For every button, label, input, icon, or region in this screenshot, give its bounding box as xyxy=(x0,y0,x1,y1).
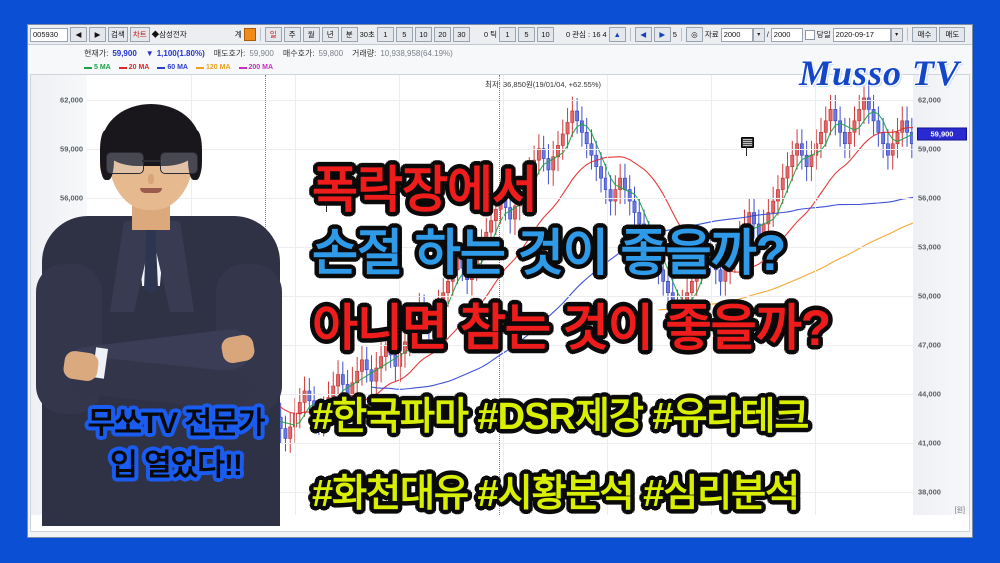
legend-item: 120 MA xyxy=(196,64,231,71)
today-label: 당일 xyxy=(817,29,831,40)
data-total-value: 2000 xyxy=(771,28,803,42)
chart-toolbar: 005930 ◀ ▶ 검색 차트 ◆삼성전자 계 일 주 월 년 분 30초 1… xyxy=(28,25,972,45)
hashtag-line-2: #화천대유 #시황분석 #심리분석 xyxy=(312,462,799,517)
minute-20[interactable]: 20 xyxy=(434,27,451,42)
title-line-2: 손절 하는 것이 좋을까? xyxy=(312,213,785,285)
period-button-week[interactable]: 주 xyxy=(284,27,301,42)
nav-left-icon[interactable]: ◀ xyxy=(635,27,652,42)
legend-item: 60 MA xyxy=(157,64,188,71)
title-line-3: 아니면 참는 것이 좋을까? xyxy=(312,288,830,360)
zero-label-2: 0 xyxy=(566,30,570,39)
minute-5[interactable]: 5 xyxy=(396,27,413,42)
legend-item: 5 MA xyxy=(84,64,111,71)
y-tick-right: 47,000 xyxy=(913,341,969,350)
minute-30[interactable]: 30 xyxy=(453,27,470,42)
y-tick-right: 59,000 xyxy=(913,144,969,153)
tick-5[interactable]: 5 xyxy=(518,27,535,42)
legend-item: 20 MA xyxy=(119,64,150,71)
volume-label: 거래량: xyxy=(352,48,376,59)
legend-item: 200 MA xyxy=(239,64,274,71)
data-count-combo[interactable]: 2000 ▾ xyxy=(721,28,765,42)
ask-price-label: 매도호가: xyxy=(214,48,246,59)
y-tick-right: 56,000 xyxy=(913,193,969,202)
caption-line-1: 무쏘TV 전문가 xyxy=(50,398,302,442)
date-value[interactable]: 2020-09-17 xyxy=(833,28,891,42)
minute-10[interactable]: 10 xyxy=(415,27,432,42)
channel-logo: Musso TV xyxy=(799,52,960,94)
count-label: 5 xyxy=(673,30,677,39)
sell-button[interactable]: 매도 xyxy=(939,27,965,42)
glasses-icon xyxy=(106,152,198,172)
date-chevron-down-icon[interactable]: ▾ xyxy=(891,28,903,42)
y-tick-right: 41,000 xyxy=(913,439,969,448)
legend-label: 60 MA xyxy=(167,64,188,71)
low-price-annotation: 최저: 36,850원(19/01/04, +62.55%) xyxy=(485,79,601,90)
presenter-nose xyxy=(148,174,154,184)
minute-30sec[interactable]: 30초 xyxy=(360,29,375,40)
buy-button[interactable]: 매수 xyxy=(912,27,938,42)
prev-stock-button[interactable]: ◀ xyxy=(70,27,87,42)
today-checkbox[interactable] xyxy=(805,30,815,40)
price-change-value: 1,100(1.80%) xyxy=(157,49,205,58)
period-button-minute[interactable]: 분 xyxy=(341,27,358,42)
account-label: 계 xyxy=(235,29,242,40)
chevron-down-icon[interactable]: ▾ xyxy=(753,28,765,42)
tick-10[interactable]: 10 xyxy=(537,27,554,42)
title-line-1: 폭락장에서 xyxy=(312,150,537,222)
account-color-swatch[interactable] xyxy=(244,28,256,41)
watchlist-number: 4 xyxy=(603,30,607,39)
volume-value: 10,938,958(64.19%) xyxy=(380,49,453,58)
date-combo[interactable]: 2020-09-17 ▾ xyxy=(833,28,903,42)
next-stock-button[interactable]: ▶ xyxy=(89,27,106,42)
bid-price-label: 매수호가: xyxy=(283,48,315,59)
slash-label: / xyxy=(767,30,769,39)
data-count-value[interactable]: 2000 xyxy=(721,28,753,42)
toolbar-separator-3 xyxy=(681,28,682,41)
ask-price-value: 59,900 xyxy=(249,49,273,58)
tick-1[interactable]: 1 xyxy=(499,27,516,42)
current-price-value: 59,900 xyxy=(112,49,136,58)
period-button-year[interactable]: 년 xyxy=(322,27,339,42)
stock-search-button[interactable]: 검색 xyxy=(108,27,128,42)
y-tick-right: 38,000 xyxy=(913,488,969,497)
watchlist-label: 관심 : 16 xyxy=(572,29,600,40)
current-price-label: 현재가: xyxy=(84,48,108,59)
bid-price-value: 59,800 xyxy=(319,49,343,58)
y-axis-right: [원] 62,00059,00056,00053,00050,00047,000… xyxy=(912,75,969,515)
down-triangle-icon: ▼ xyxy=(146,49,154,58)
stock-code-input[interactable]: 005930 xyxy=(30,28,68,42)
legend-label: 120 MA xyxy=(206,64,231,71)
screenshot-root: 005930 ◀ ▶ 검색 차트 ◆삼성전자 계 일 주 월 년 분 30초 1… xyxy=(0,0,1000,563)
legend-label: 5 MA xyxy=(94,64,111,71)
tick-zero-label: 0 xyxy=(484,30,488,39)
toolbar-separator-1 xyxy=(260,28,261,41)
caption-line-2: 입 열었다!! xyxy=(50,440,302,484)
y-tick-left: 62,000 xyxy=(31,95,87,104)
toolbar-separator-2 xyxy=(630,28,631,41)
y-tick-right: 44,000 xyxy=(913,390,969,399)
chart-type-button[interactable]: 차트 xyxy=(130,27,150,42)
nav-right-icon[interactable]: ▶ xyxy=(654,27,671,42)
period-button-day[interactable]: 일 xyxy=(265,27,282,42)
gridline xyxy=(87,100,913,101)
period-button-month[interactable]: 월 xyxy=(303,27,320,42)
data-settings-icon[interactable]: ◎ xyxy=(686,27,703,42)
y-tick-right: 50,000 xyxy=(913,292,969,301)
presenter-hand-left xyxy=(62,350,100,382)
minute-1[interactable]: 1 xyxy=(377,27,394,42)
unit-label: [원] xyxy=(955,505,965,515)
data-label: 자료 xyxy=(705,29,719,40)
chart-note-marker-icon[interactable] xyxy=(741,137,754,148)
tick-label: 틱 xyxy=(490,29,497,40)
current-price-badge: 59,900 xyxy=(917,127,967,140)
hashtag-line-1: #한국파마 #DSR제강 #유라테크 xyxy=(312,385,808,440)
y-tick-right: 62,000 xyxy=(913,95,969,104)
presenter-mouth xyxy=(140,188,162,193)
legend-label: 200 MA xyxy=(249,64,274,71)
stock-name-label: ◆삼성전자 xyxy=(152,29,187,40)
legend-label: 20 MA xyxy=(129,64,150,71)
spinner-up-icon[interactable]: ▲ xyxy=(609,27,626,42)
toolbar-separator-4 xyxy=(907,28,908,41)
y-tick-right: 53,000 xyxy=(913,242,969,251)
